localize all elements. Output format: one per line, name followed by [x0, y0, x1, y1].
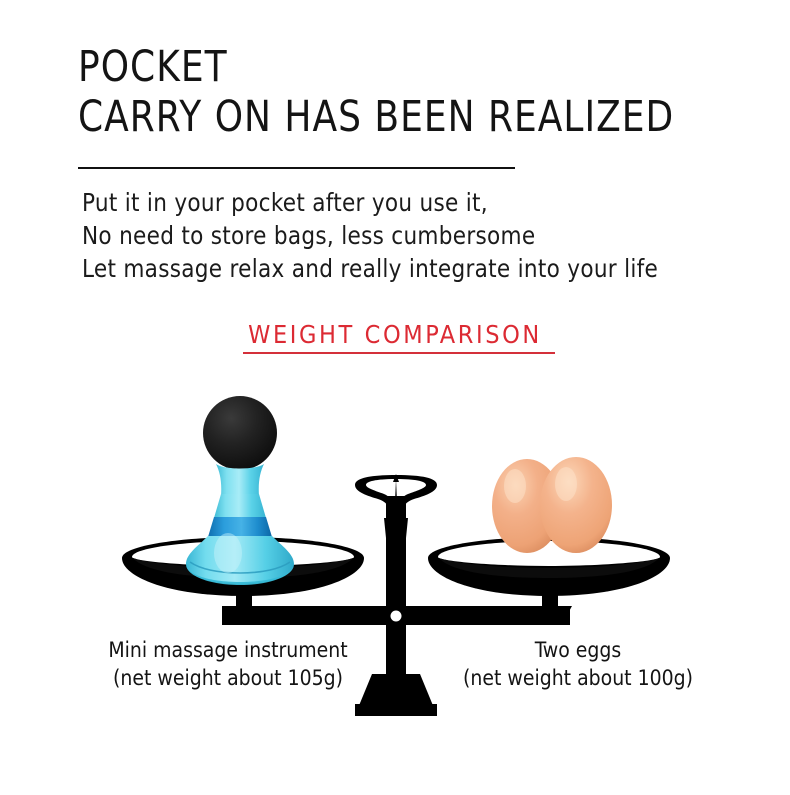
body-line-3: Let massage relax and really integrate i…	[82, 252, 744, 285]
body-copy-block: Put it in your pocket after you use it, …	[82, 186, 772, 285]
device-highlight	[214, 533, 242, 573]
right-caption: Two eggs (net weight about 100g)	[398, 636, 758, 692]
egg-left-highlight	[504, 469, 526, 503]
pivot-dot	[391, 611, 402, 622]
headline-line-2: CARRY ON HAS BEEN REALIZED	[78, 92, 710, 142]
section-title: WEIGHT COMPARISON	[248, 320, 542, 349]
left-caption-name: Mini massage instrument	[48, 636, 408, 664]
column-shoulder	[384, 518, 408, 538]
egg-right	[540, 457, 612, 553]
massage-device	[186, 396, 294, 585]
egg-right-highlight	[555, 467, 577, 501]
device-band	[208, 517, 272, 537]
body-line-2: No need to store bags, less cumbersome	[82, 219, 744, 252]
headline-block: POCKET CARRY ON HAS BEEN REALIZED	[78, 42, 758, 142]
device-upper-body	[214, 494, 266, 518]
right-pan	[428, 537, 670, 596]
scale-base-foot	[355, 704, 437, 716]
device-head	[203, 396, 277, 470]
left-caption-weight: (net weight about 105g)	[48, 664, 408, 692]
device-neck	[216, 464, 264, 496]
section-title-underline	[243, 352, 555, 354]
right-caption-weight: (net weight about 100g)	[398, 664, 758, 692]
left-caption: Mini massage instrument (net weight abou…	[48, 636, 408, 692]
two-eggs	[492, 457, 612, 553]
section-title-wrapper: WEIGHT COMPARISON	[0, 320, 790, 349]
headline-line-1: POCKET	[78, 42, 710, 92]
body-line-1: Put it in your pocket after you use it,	[82, 186, 744, 219]
headline-divider	[78, 167, 515, 169]
right-caption-name: Two eggs	[398, 636, 758, 664]
